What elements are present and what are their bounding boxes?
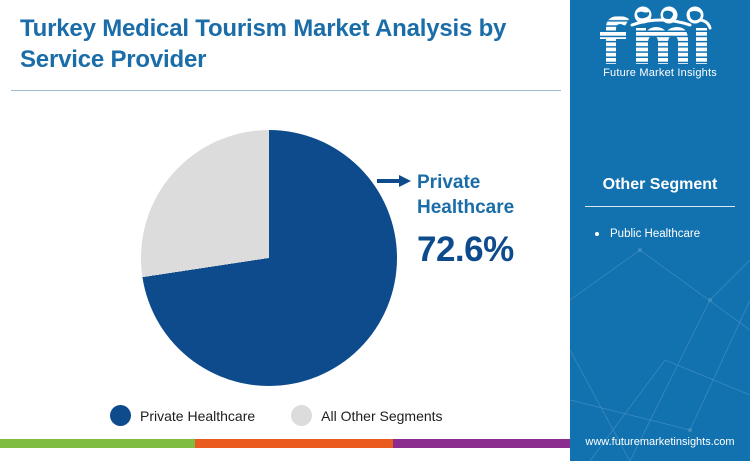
pie-chart	[141, 130, 397, 386]
other-segment-divider	[585, 206, 735, 207]
legend-swatch-icon	[291, 405, 312, 426]
side-panel: Future Market Insights Other Segment Pub…	[570, 0, 750, 461]
fmi-logo: Future Market Insights	[570, 6, 750, 79]
other-segment-heading: Other Segment	[570, 176, 750, 194]
legend-item-all-other-segments: All Other Segments	[291, 405, 442, 426]
website-url: www.futuremarketinsights.com	[570, 436, 750, 448]
page-title: Turkey Medical Tourism Market Analysis b…	[20, 14, 540, 75]
legend-item-label: Private Healthcare	[140, 408, 255, 424]
main-content-area: Turkey Medical Tourism Market Analysis b…	[0, 0, 570, 448]
legend-item-label: All Other Segments	[321, 408, 442, 424]
bar-segment-green	[0, 439, 195, 448]
bar-segment-orange	[195, 439, 393, 448]
list-item-label: Public Healthcare	[610, 228, 700, 240]
bottom-color-bar	[0, 439, 570, 448]
callout-label: Private Healthcare	[417, 170, 562, 221]
other-segment-list: Public Healthcare	[592, 225, 747, 243]
infographic-root: Turkey Medical Tourism Market Analysis b…	[0, 0, 750, 461]
pie-slices	[141, 130, 397, 386]
title-divider	[11, 90, 561, 91]
bar-segment-purple	[393, 439, 570, 448]
arrow-shaft	[377, 179, 401, 183]
bullet-icon	[595, 232, 599, 236]
arrow-right-icon	[377, 175, 411, 187]
legend-item-private-healthcare: Private Healthcare	[110, 405, 255, 426]
fmi-logo-mark	[596, 6, 724, 64]
legend-swatch-icon	[110, 405, 131, 426]
callout-block: Private Healthcare 72.6%	[417, 170, 562, 270]
callout-value: 72.6%	[417, 230, 562, 270]
list-item: Public Healthcare	[592, 225, 747, 243]
arrow-head	[399, 175, 411, 187]
fmi-logo-wordmark: Future Market Insights	[570, 67, 750, 79]
chart-legend: Private Healthcare All Other Segments	[110, 405, 443, 426]
